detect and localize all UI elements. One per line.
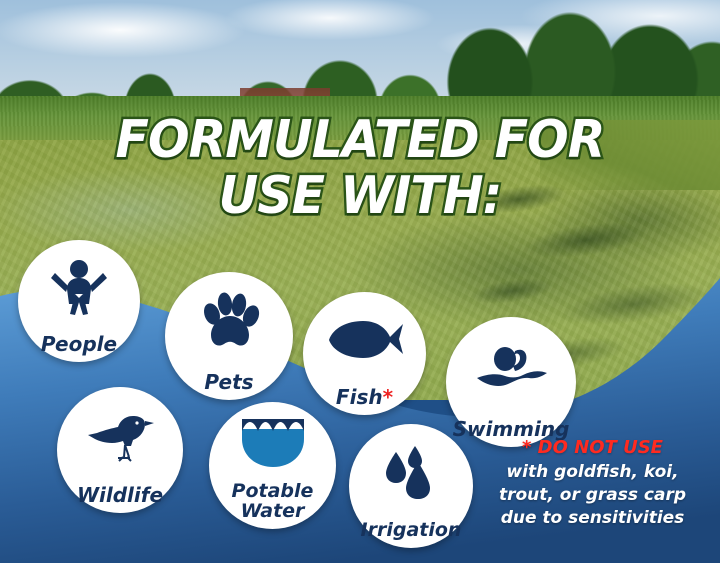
- water-drop-circle-icon: [209, 402, 336, 482]
- badge-label: People: [41, 334, 117, 354]
- badge-irrigation[interactable]: Irrigation: [349, 424, 473, 548]
- page-title: FORMULATED FOR USE WITH:: [22, 112, 699, 224]
- water-droplets-icon: [349, 424, 473, 521]
- paw-print-icon: [165, 272, 293, 372]
- headline-line-2: USE WITH:: [22, 168, 699, 224]
- badge-label: Potable Water: [232, 482, 314, 521]
- badge-label: Fish*: [336, 387, 393, 407]
- swimmer-icon: [446, 317, 576, 419]
- person-icon: [18, 240, 140, 334]
- fish-icon: [303, 292, 426, 387]
- warning-line-2: trout, or grass carp: [470, 484, 715, 507]
- badge-label-line-2: Water: [241, 500, 305, 522]
- badge-wildlife[interactable]: Wildlife: [57, 387, 183, 513]
- bird-icon: [57, 387, 183, 485]
- warning-line-1: with goldfish, koi,: [470, 461, 715, 484]
- warning-note: * DO NOT USE with goldfish, koi, trout, …: [470, 436, 715, 530]
- badge-label-text: Fish: [336, 385, 383, 409]
- warning-title: * DO NOT USE: [470, 436, 715, 459]
- badge-label: Wildlife: [77, 485, 163, 505]
- badge-potable-water[interactable]: Potable Water: [209, 402, 336, 529]
- warning-line-3: due to sensitivities: [470, 507, 715, 530]
- badge-label: Irrigation: [361, 521, 462, 540]
- badge-people[interactable]: People: [18, 240, 140, 362]
- badge-label: Pets: [204, 372, 253, 392]
- promotional-poster: FORMULATED FOR USE WITH: People: [0, 0, 720, 563]
- headline-line-1: FORMULATED FOR: [116, 110, 605, 170]
- badge-fish[interactable]: Fish*: [303, 292, 426, 415]
- asterisk-marker: *: [383, 385, 393, 409]
- badge-pets[interactable]: Pets: [165, 272, 293, 400]
